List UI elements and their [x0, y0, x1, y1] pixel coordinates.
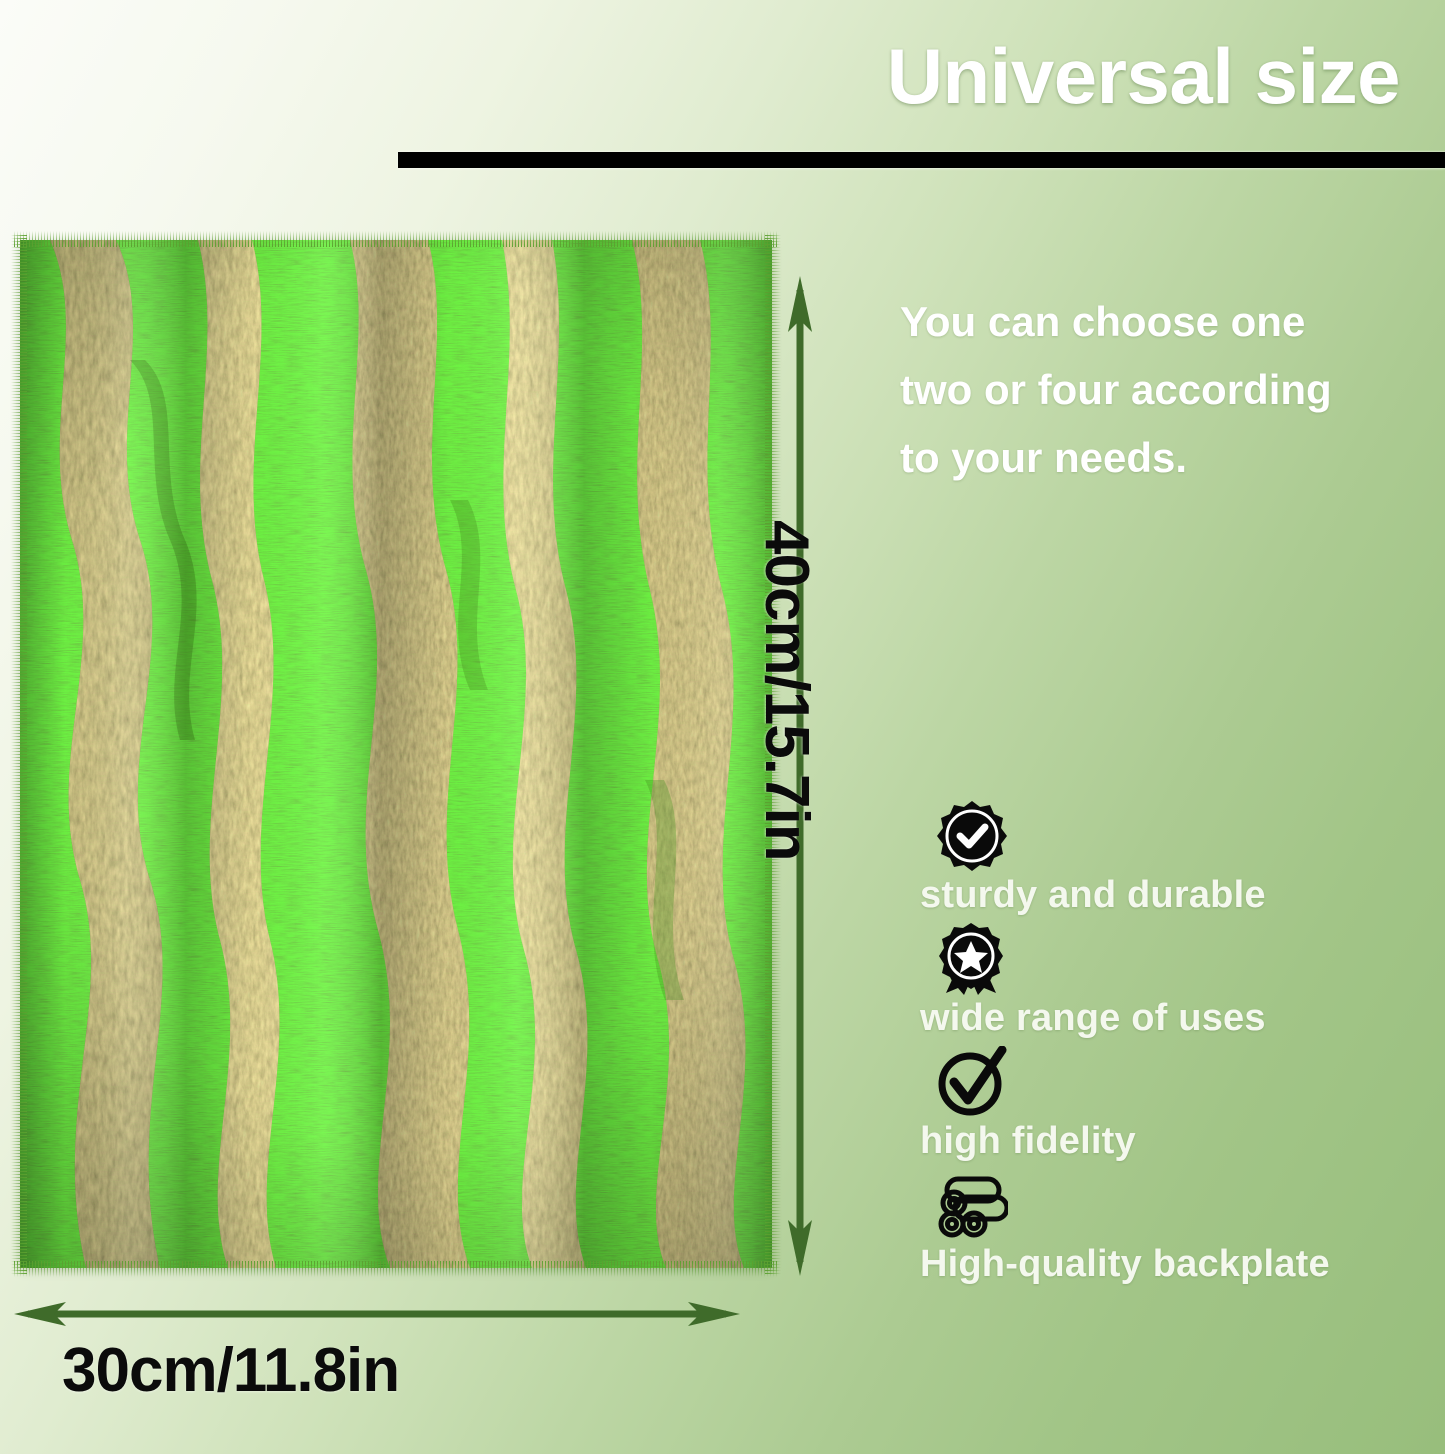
feature-item-sturdy-and-durable: sturdy and durable — [920, 800, 1445, 917]
stacked-logs-icon — [936, 1169, 1008, 1241]
product-image — [20, 240, 772, 1268]
moss-texture-graphic — [20, 240, 772, 1268]
horizontal-double-arrow-icon — [14, 1292, 740, 1336]
award-ribbon-star-icon — [936, 923, 1008, 995]
description-line-2: two or four according — [900, 356, 1420, 424]
page-title: Universal size — [600, 36, 1400, 118]
feature-item-high-fidelity: high fidelity — [920, 1046, 1445, 1163]
feature-label: wide range of uses — [920, 997, 1445, 1040]
width-dimension-label: 30cm/11.8in — [62, 1335, 399, 1406]
title-underline-rule — [398, 152, 1445, 168]
feature-label: High-quality backplate — [920, 1243, 1445, 1286]
badge-check-icon — [936, 800, 1008, 872]
feature-list: sturdy and durable wide range of uses — [920, 800, 1445, 1292]
feature-label: sturdy and durable — [920, 874, 1445, 917]
feature-item-high-quality-backplate: High-quality backplate — [920, 1169, 1445, 1286]
circle-check-icon — [936, 1046, 1008, 1118]
feature-item-wide-range-of-uses: wide range of uses — [920, 923, 1445, 1040]
infographic-canvas: Universal size — [0, 0, 1445, 1454]
feature-label: high fidelity — [920, 1120, 1445, 1163]
width-dimension-arrow — [14, 1292, 740, 1336]
description-line-3: to your needs. — [900, 424, 1420, 492]
description-line-1: You can choose one — [900, 288, 1420, 356]
description-block: You can choose one two or four according… — [900, 288, 1420, 492]
height-dimension-label: 40cm/15.7in — [751, 520, 822, 1040]
moss-bark-panel — [20, 240, 772, 1268]
